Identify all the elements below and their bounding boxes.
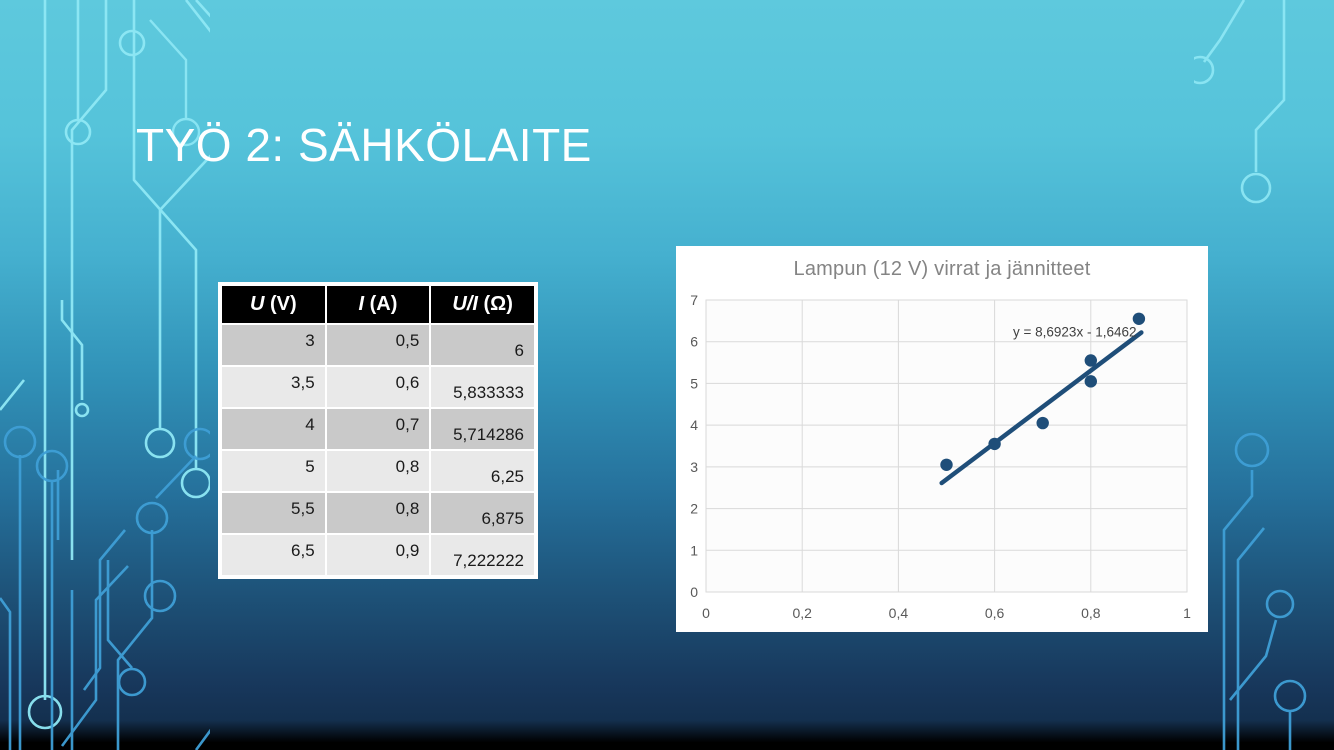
slide-title: TYÖ 2: SÄHKÖLAITE	[136, 118, 592, 172]
cell-voltage: 5	[222, 451, 325, 491]
cell-current: 0,8	[327, 451, 430, 491]
trendline-equation-label: y = 8,6923x - 1,6462	[1013, 325, 1136, 340]
presentation-slide: TYÖ 2: SÄHKÖLAITE U (V) I (A) U/I (Ω)	[0, 0, 1334, 750]
table-row: 5 0,8 6,25	[222, 451, 534, 491]
cell-current: 0,5	[327, 325, 430, 365]
data-point	[1037, 417, 1049, 429]
cell-voltage: 3,5	[222, 367, 325, 407]
data-point	[940, 459, 952, 471]
circuit-decoration-left	[0, 0, 210, 750]
header-unit-ohm: (Ω)	[478, 293, 513, 315]
data-point	[1133, 313, 1145, 325]
plot-background	[706, 300, 1187, 592]
cell-resistance: 6	[431, 325, 534, 365]
cell-resistance: 6,875	[431, 493, 534, 533]
x-axis-tick-label: 0,2	[792, 605, 812, 621]
table-row: 4 0,7 5,714286	[222, 409, 534, 449]
y-axis-tick-label: 4	[690, 417, 698, 433]
data-point	[988, 438, 1000, 450]
cell-voltage: 4	[222, 409, 325, 449]
y-axis-tick-label: 6	[690, 334, 698, 350]
table-row: 6,5 0,9 7,222222	[222, 535, 534, 575]
scatter-chart: Lampun (12 V) virrat ja jännitteet 01234…	[676, 246, 1208, 632]
y-axis-tick-label: 7	[690, 292, 698, 308]
cell-resistance: 7,222222	[431, 535, 534, 575]
measurement-table: U (V) I (A) U/I (Ω) 3 0,5 6 3,5	[218, 282, 538, 579]
cell-voltage: 5,5	[222, 493, 325, 533]
cell-current: 0,8	[327, 493, 430, 533]
cell-resistance: 5,833333	[431, 367, 534, 407]
x-axis-tick-label: 0,4	[889, 605, 909, 621]
y-axis-tick-label: 5	[690, 375, 698, 391]
circuit-decoration-right	[1194, 0, 1334, 750]
table-row: 3 0,5 6	[222, 325, 534, 365]
y-axis-tick-label: 3	[690, 459, 698, 475]
x-axis-tick-label: 0	[702, 605, 710, 621]
table-header-row: U (V) I (A) U/I (Ω)	[222, 286, 534, 323]
header-unit-a: (A)	[364, 293, 397, 315]
table-row: 5,5 0,8 6,875	[222, 493, 534, 533]
y-axis-tick-label: 0	[690, 584, 698, 600]
column-header-voltage: U (V)	[222, 286, 325, 323]
cell-resistance: 5,714286	[431, 409, 534, 449]
column-header-current: I (A)	[327, 286, 430, 323]
cell-voltage: 6,5	[222, 535, 325, 575]
cell-current: 0,9	[327, 535, 430, 575]
column-header-resistance: U/I (Ω)	[431, 286, 534, 323]
chart-plot-area: 0123456700,20,40,60,81y = 8,6923x - 1,64…	[676, 246, 1208, 632]
cell-voltage: 3	[222, 325, 325, 365]
y-axis-tick-label: 2	[690, 501, 698, 517]
data-point	[1085, 354, 1097, 366]
data-point	[1085, 375, 1097, 387]
cell-current: 0,7	[327, 409, 430, 449]
x-axis-tick-label: 0,6	[985, 605, 1005, 621]
header-unit-v: (V)	[264, 293, 296, 315]
cell-current: 0,6	[327, 367, 430, 407]
table-row: 3,5 0,6 5,833333	[222, 367, 534, 407]
x-axis-tick-label: 1	[1183, 605, 1191, 621]
header-symbol-ui: U/I	[452, 293, 478, 315]
y-axis-tick-label: 1	[690, 542, 698, 558]
x-axis-tick-label: 0,8	[1081, 605, 1101, 621]
header-symbol-u: U	[250, 293, 264, 315]
cell-resistance: 6,25	[431, 451, 534, 491]
